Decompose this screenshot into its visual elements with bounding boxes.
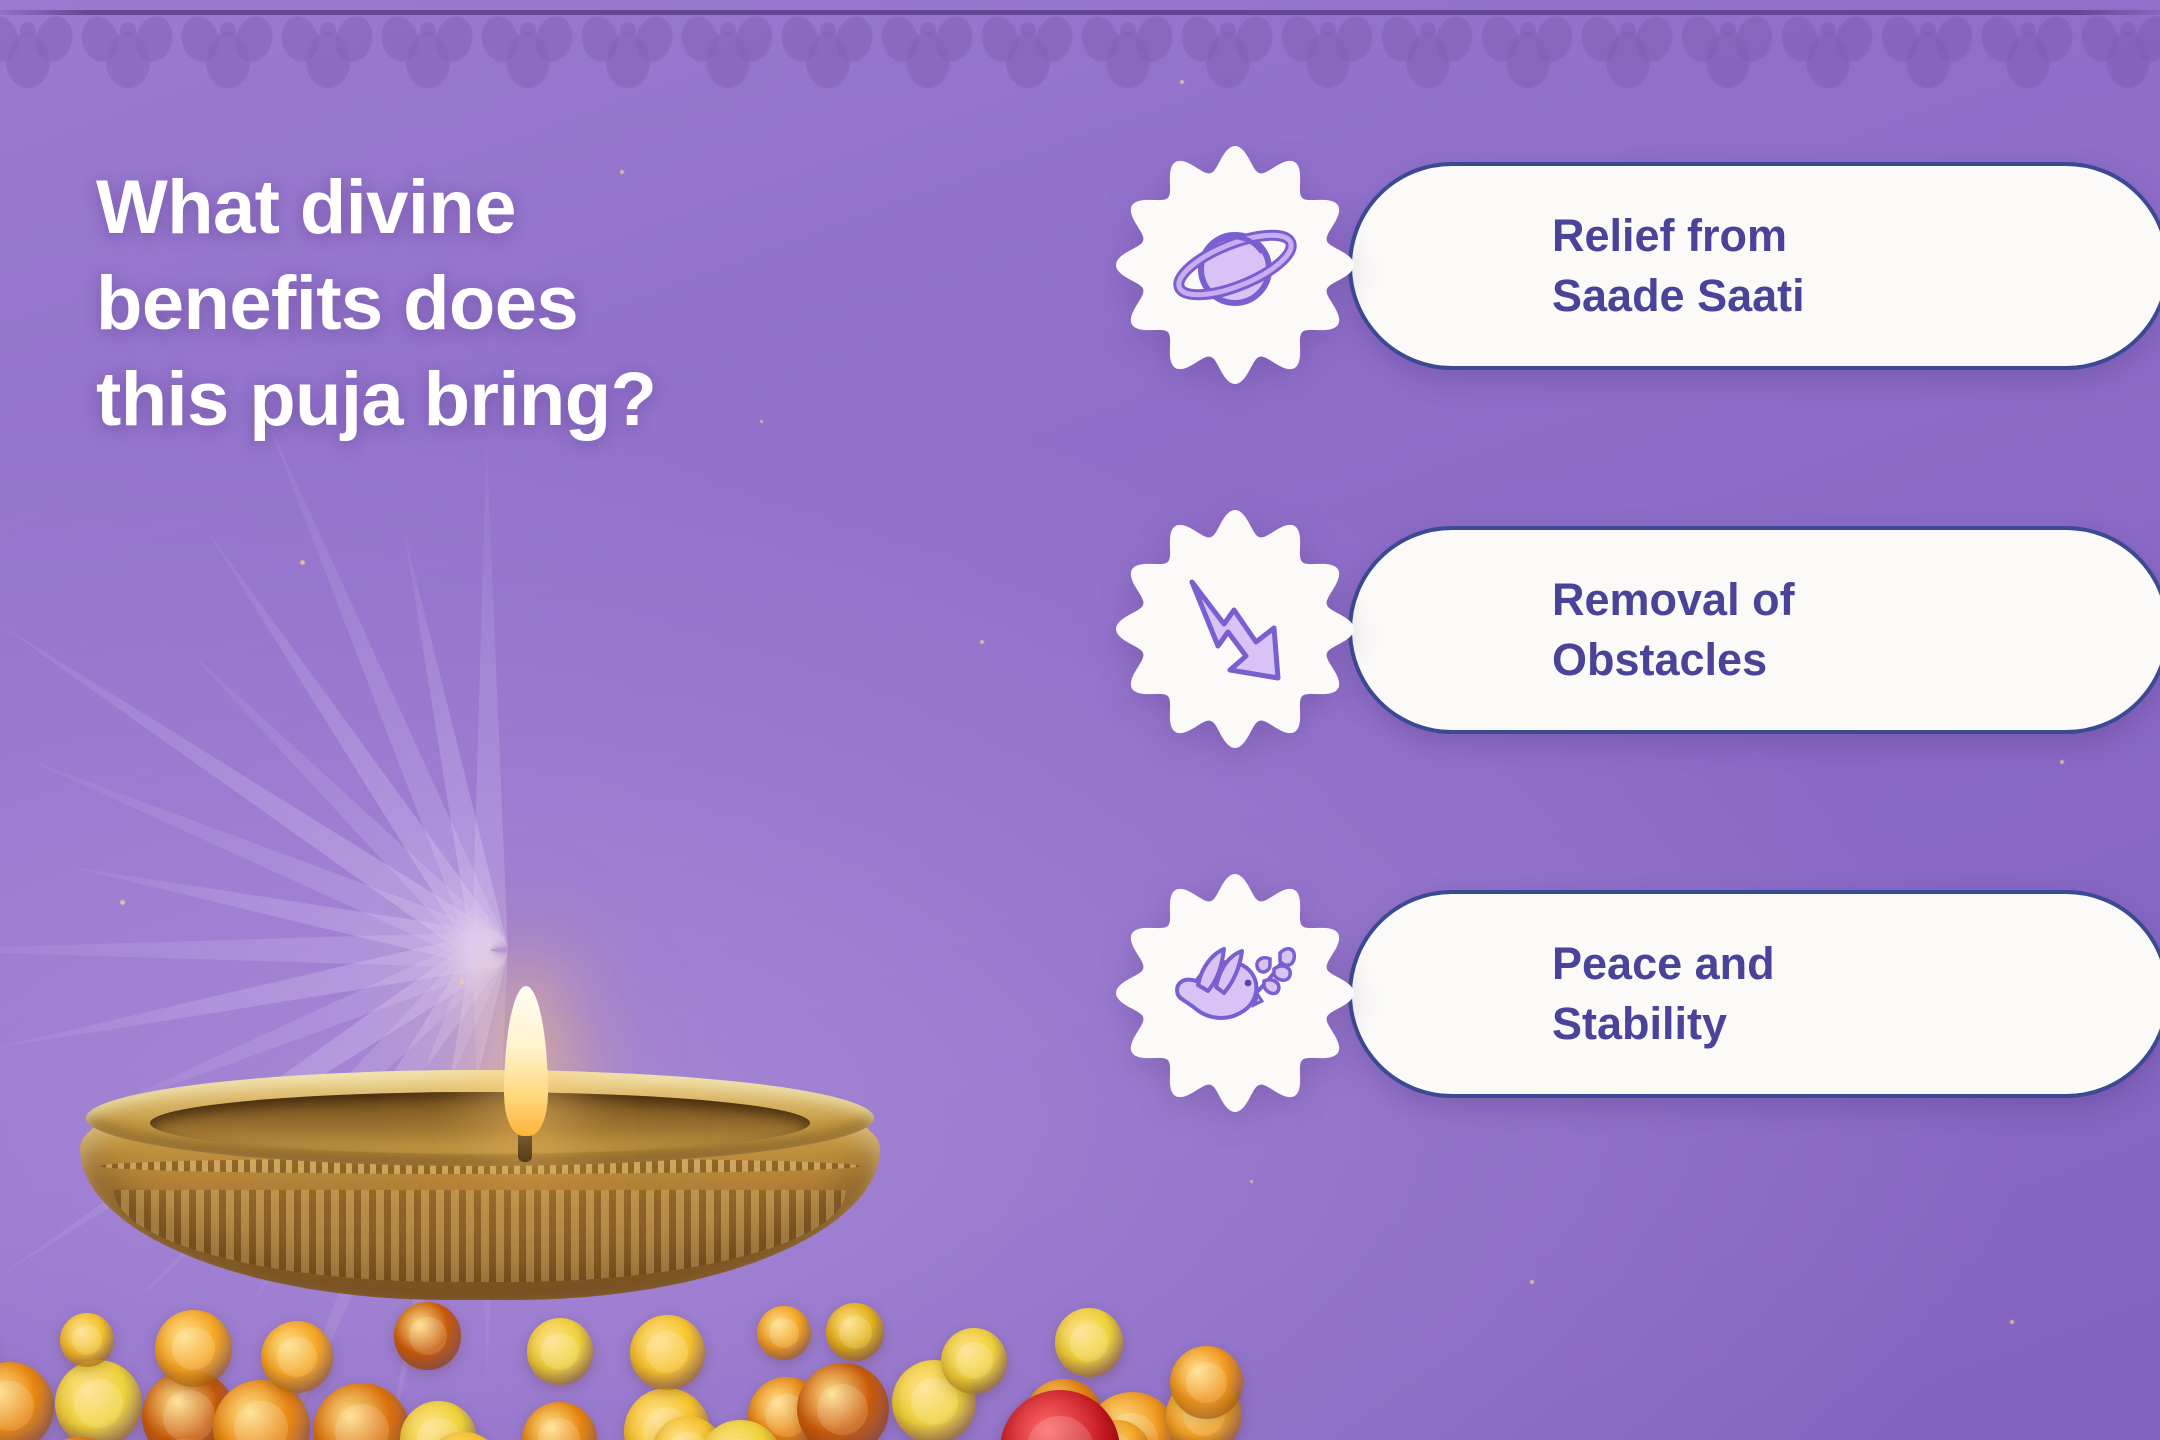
benefit-label: Peace and Stability bbox=[1552, 934, 1972, 1054]
sparkle bbox=[2010, 1320, 2014, 1324]
garland-motif bbox=[780, 14, 876, 92]
rose-flower bbox=[1000, 1390, 1120, 1440]
garland-motif bbox=[80, 14, 176, 92]
benefit-label-line-1: Relief from bbox=[1552, 206, 1972, 266]
garland-motif bbox=[680, 14, 776, 92]
garland-motif bbox=[1980, 14, 2076, 92]
marigold-flower bbox=[522, 1402, 597, 1440]
garland-motif bbox=[1280, 14, 1376, 92]
benefit-pill: Removal of Obstacles bbox=[1348, 526, 2160, 734]
garland-motif bbox=[880, 14, 976, 92]
marigold-flower bbox=[155, 1310, 232, 1387]
marigold-flower bbox=[313, 1383, 410, 1440]
garland-motif bbox=[1680, 14, 1776, 92]
benefit-icon-badge bbox=[1090, 140, 1380, 390]
poster-canvas: What divine benefits does this puja brin… bbox=[0, 0, 2160, 1440]
marigold-flower bbox=[261, 1321, 333, 1393]
benefit-card-removal-of-obstacles[interactable]: Removal of Obstacles bbox=[1090, 504, 2110, 754]
marigold-flower bbox=[941, 1328, 1007, 1394]
benefit-label-line-2: Saade Saati bbox=[1552, 266, 1972, 326]
benefit-label-line-2: Obstacles bbox=[1552, 630, 1972, 690]
garland-motif bbox=[480, 14, 576, 92]
marigold-flower bbox=[757, 1306, 811, 1360]
page-title: What divine benefits does this puja brin… bbox=[96, 160, 916, 447]
saturn-planet-icon bbox=[1169, 203, 1301, 327]
marigold-flower bbox=[60, 1313, 114, 1367]
benefit-label-line-1: Peace and bbox=[1552, 934, 1972, 994]
marigold-flower bbox=[1055, 1308, 1124, 1377]
marigold-flower bbox=[826, 1303, 884, 1361]
garland-motif bbox=[1080, 14, 1176, 92]
sparkle bbox=[120, 900, 125, 905]
benefit-pill: Peace and Stability bbox=[1348, 890, 2160, 1098]
garland-motif bbox=[1380, 14, 1476, 92]
marigold-flower bbox=[0, 1362, 54, 1440]
marigold-flower bbox=[630, 1315, 705, 1390]
page-title-line-1: What divine bbox=[96, 160, 916, 256]
benefit-label-line-1: Removal of bbox=[1552, 570, 1972, 630]
marigold-flower bbox=[797, 1363, 889, 1440]
benefit-card-peace-and-stability[interactable]: Peace and Stability bbox=[1090, 868, 2110, 1118]
sparkle bbox=[1530, 1280, 1534, 1284]
garland-motif bbox=[280, 14, 376, 92]
garland-motif bbox=[180, 14, 276, 92]
benefit-card-relief-from-saade-saati[interactable]: Relief from Saade Saati bbox=[1090, 140, 2110, 390]
marigold-flower bbox=[394, 1302, 461, 1369]
garland-motif bbox=[1780, 14, 1876, 92]
benefit-pill: Relief from Saade Saati bbox=[1348, 162, 2160, 370]
mandala-garland-border bbox=[0, 14, 2160, 92]
marigold-flower bbox=[527, 1318, 593, 1384]
garland-motif bbox=[0, 14, 76, 92]
benefit-label-line-2: Stability bbox=[1552, 994, 1972, 1054]
garland-motif bbox=[580, 14, 676, 92]
marigold-flower bbox=[1170, 1346, 1243, 1419]
sparkle bbox=[1180, 80, 1184, 84]
benefit-label: Removal of Obstacles bbox=[1552, 570, 1972, 690]
garland-motif bbox=[980, 14, 1076, 92]
benefit-icon-badge bbox=[1090, 504, 1380, 754]
benefit-icon-badge bbox=[1090, 868, 1380, 1118]
diya-oil-well bbox=[150, 1092, 810, 1154]
page-title-line-3: this puja bring? bbox=[96, 352, 916, 448]
garland-motif bbox=[1580, 14, 1676, 92]
sparkle bbox=[300, 560, 305, 565]
benefits-list: Relief from Saade Saati bbox=[1090, 140, 2110, 1232]
garland-motif bbox=[1180, 14, 1276, 92]
marigold-flower-garland bbox=[0, 1230, 1260, 1440]
page-title-line-2: benefits does bbox=[96, 256, 916, 352]
garland-motif bbox=[2080, 14, 2160, 92]
benefit-label: Relief from Saade Saati bbox=[1552, 206, 1972, 326]
dove-olive-branch-icon bbox=[1162, 933, 1308, 1053]
garland-motif bbox=[1480, 14, 1576, 92]
garland-motif bbox=[1880, 14, 1976, 92]
downward-arrow-icon bbox=[1172, 566, 1298, 692]
sunburst-ray bbox=[468, 440, 508, 950]
garland-motif bbox=[380, 14, 476, 92]
marigold-flower bbox=[55, 1360, 143, 1440]
sparkle bbox=[460, 980, 464, 984]
sparkle bbox=[980, 640, 984, 644]
